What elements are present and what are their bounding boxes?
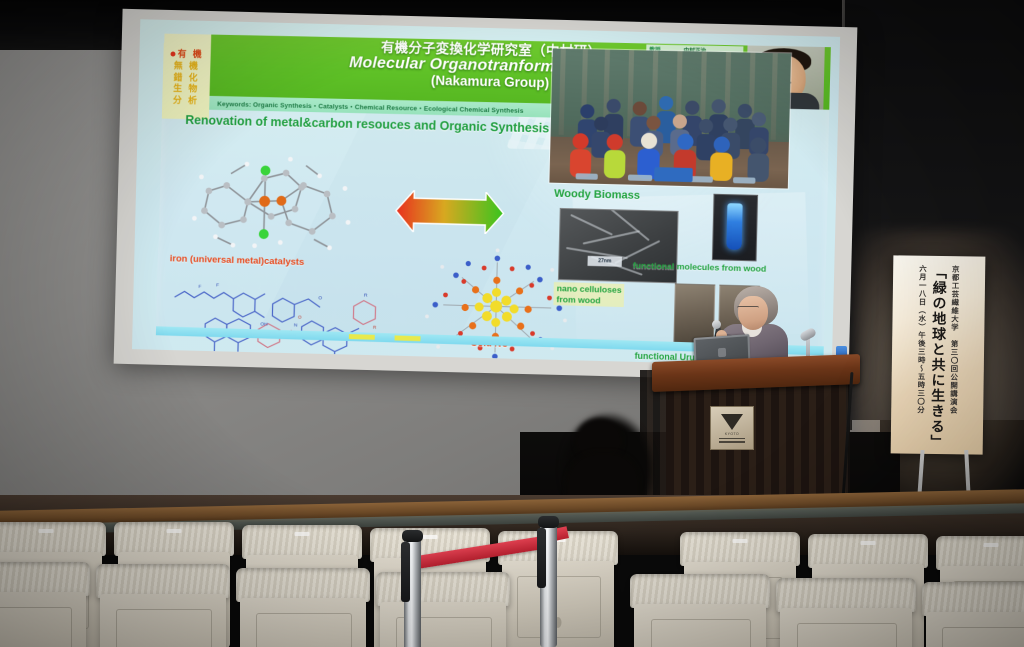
laptop-logo-icon	[718, 348, 726, 358]
speaker-face	[738, 296, 768, 330]
banner-organizer-text: 京都工芸繊維大学 第三〇回公開講演会	[948, 265, 960, 445]
iron-catalyst-molecule-diagram	[185, 133, 366, 272]
chevron-emblem-icon	[721, 414, 743, 430]
category-analysis: 分 析	[162, 95, 209, 107]
svg-text:OH: OH	[260, 321, 268, 327]
category-bio: 生 物	[163, 83, 210, 95]
transformation-arrow-icon	[393, 190, 506, 235]
plaque-rule-1	[719, 438, 745, 440]
active-dot-icon	[171, 51, 176, 56]
sem-scale-value: 27nm	[598, 258, 611, 264]
svg-text:O: O	[318, 295, 322, 301]
event-banner-sign: 京都工芸繊維大学 第三〇回公開講演会 「緑の地球と共に生きる」 六月一八日（水）…	[891, 255, 986, 454]
woody-biomass-label: Woody Biomass	[554, 188, 640, 202]
nanocellulose-label: nano celluloses from wood	[553, 282, 624, 308]
banner-datetime-text: 六月一八日（水）午後三時〜五時三〇分	[916, 265, 928, 445]
nanocellulose-sem-image: 27nm	[558, 208, 679, 284]
category-organic: 有 機	[164, 48, 211, 60]
field-team-photo	[548, 47, 792, 189]
footer-highlight-1	[349, 334, 375, 340]
sem-scale-bar: 27nm	[587, 256, 621, 267]
svg-text:R: R	[373, 325, 377, 330]
plaque-rule-2	[719, 441, 745, 443]
handheld-microphone-head	[712, 320, 721, 329]
svg-text:O: O	[298, 315, 302, 320]
research-category-strip: 有 機 無 機 錯 化 生 物 分 析	[162, 34, 211, 120]
svg-text:F: F	[216, 282, 219, 288]
stanchion-post[interactable]	[540, 520, 557, 647]
speaker-glasses	[737, 306, 759, 312]
team-members-group	[549, 49, 791, 189]
plaque-text: KYOTO	[725, 432, 739, 436]
lectern-emblem-plaque: KYOTO	[710, 406, 754, 450]
audience-seating	[0, 500, 1024, 647]
svg-text:F: F	[198, 284, 201, 290]
banner-title-text: 「緑の地球と共に生きる」	[928, 265, 948, 445]
functional-molecule-photo	[712, 194, 758, 262]
lecture-hall-photo: 有機分子変換化学研究室（中村研） Molecular Organotranfor…	[0, 0, 1024, 647]
svg-text:R: R	[364, 293, 368, 299]
footer-highlight-2	[395, 335, 421, 341]
fluorescent-vial	[726, 203, 742, 250]
svg-text:N: N	[294, 322, 298, 328]
stanchion-post[interactable]	[404, 534, 421, 647]
category-complex: 錯 化	[163, 72, 210, 84]
category-inorganic: 無 機	[163, 60, 210, 72]
